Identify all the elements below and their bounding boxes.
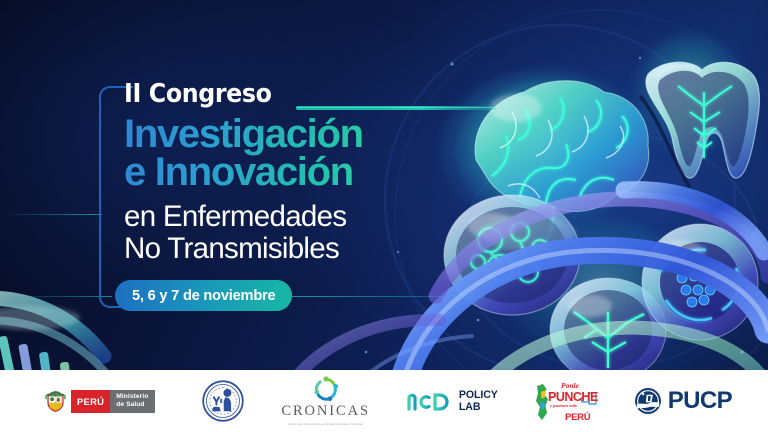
event-kicker: II Congreso (124, 82, 431, 108)
subhead-line-2: No Transmisibles (124, 233, 454, 265)
ncd-lab-label: LAB (459, 402, 498, 413)
minsa-ministry-line-1: Ministerio (116, 393, 148, 401)
ppp-line-3: y ponemos todo (549, 403, 577, 408)
ins-seal-logo (201, 379, 245, 423)
minsa-logo: PERÚ Ministerio de Salud (44, 390, 155, 413)
tooth-illustration (640, 62, 759, 188)
sponsor-logo-bar: PERÚ Ministerio de Salud (0, 370, 768, 432)
ncd-policy-lab-wordmark: POLICY LAB (459, 390, 498, 413)
ins-seal-icon (201, 379, 245, 423)
title-block: II Congreso Investigación e Innovación e… (124, 82, 454, 266)
cronicas-logo: CRONICAS Centro de Excelencia en Enferme… (281, 376, 370, 426)
minsa-ministry-line-2: de Salud (116, 401, 148, 409)
date-badge: 5, 6 y 7 de noviembre (115, 280, 292, 311)
connector-line-left-upper (0, 214, 102, 215)
congress-banner: II Congreso Investigación e Innovación e… (0, 0, 768, 432)
ponle-punche-peru-icon: Ponle PUNCHE y ponemos todo PERÚ (530, 378, 604, 424)
event-headline: Investigación e Innovación (124, 115, 454, 192)
ncd-policy-label: POLICY (459, 390, 498, 401)
pucp-shield-icon (634, 387, 662, 415)
ppp-line-4: PERÚ (565, 411, 591, 423)
ponle-punche-peru-logo: Ponle PUNCHE y ponemos todo PERÚ (530, 378, 604, 424)
cronicas-wordmark: CRONICAS (281, 403, 370, 420)
ncd-policy-lab-logo: POLICY LAB (406, 390, 498, 413)
cronicas-circle-icon (313, 376, 339, 402)
ppp-line-1: Ponle (561, 381, 580, 390)
pucp-logo: PUCP (634, 387, 732, 415)
subhead-line-1: en Enfermedades (124, 201, 454, 233)
peru-coat-of-arms-icon (44, 390, 67, 413)
minsa-wordmark: PERÚ Ministerio de Salud (71, 390, 155, 413)
headline-line-2: e Innovación (124, 153, 454, 191)
connector-line-right (292, 296, 482, 297)
cronicas-tagline: Centro de Excelencia en Enfermedades Cró… (288, 422, 363, 426)
minsa-ministry-label: Ministerio de Salud (110, 390, 155, 413)
pucp-wordmark: PUCP (668, 387, 732, 415)
ncd-acronym-icon (406, 390, 454, 412)
connector-line-left-lower (0, 296, 112, 297)
event-subheadline: en Enfermedades No Transmisibles (124, 201, 454, 265)
headline-line-1: Investigación (124, 112, 363, 156)
minsa-peru-label: PERÚ (71, 390, 110, 413)
ppp-line-2: PUNCHE (548, 390, 598, 404)
